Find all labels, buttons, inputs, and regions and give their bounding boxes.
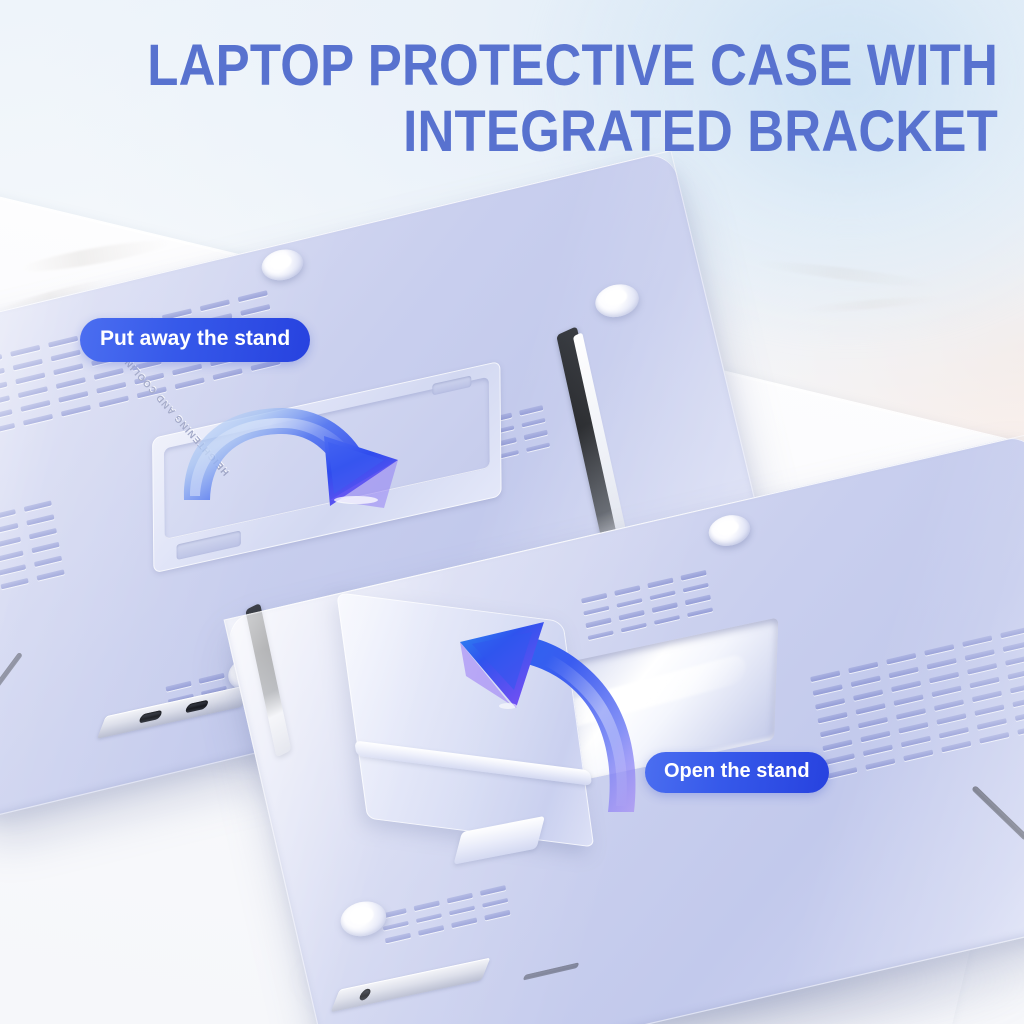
headphone-jack-icon [358,988,372,1001]
title-line-2: INTEGRATED BRACKET [120,104,998,160]
page-title: LAPTOP PROTECTIVE CASE WITH INTEGRATED B… [0,38,998,159]
badge-open-the-stand[interactable]: Open the stand [645,752,829,793]
usb-c-port-icon [184,700,209,714]
title-line-1: LAPTOP PROTECTIVE CASE WITH [120,38,998,94]
badge-put-away-the-stand[interactable]: Put away the stand [80,318,310,362]
product-marketing-image: LAPTOP PROTECTIVE CASE WITH INTEGRATED B… [0,0,1024,1024]
kickstand-open[interactable] [336,592,594,847]
usb-c-port-icon [138,710,163,724]
